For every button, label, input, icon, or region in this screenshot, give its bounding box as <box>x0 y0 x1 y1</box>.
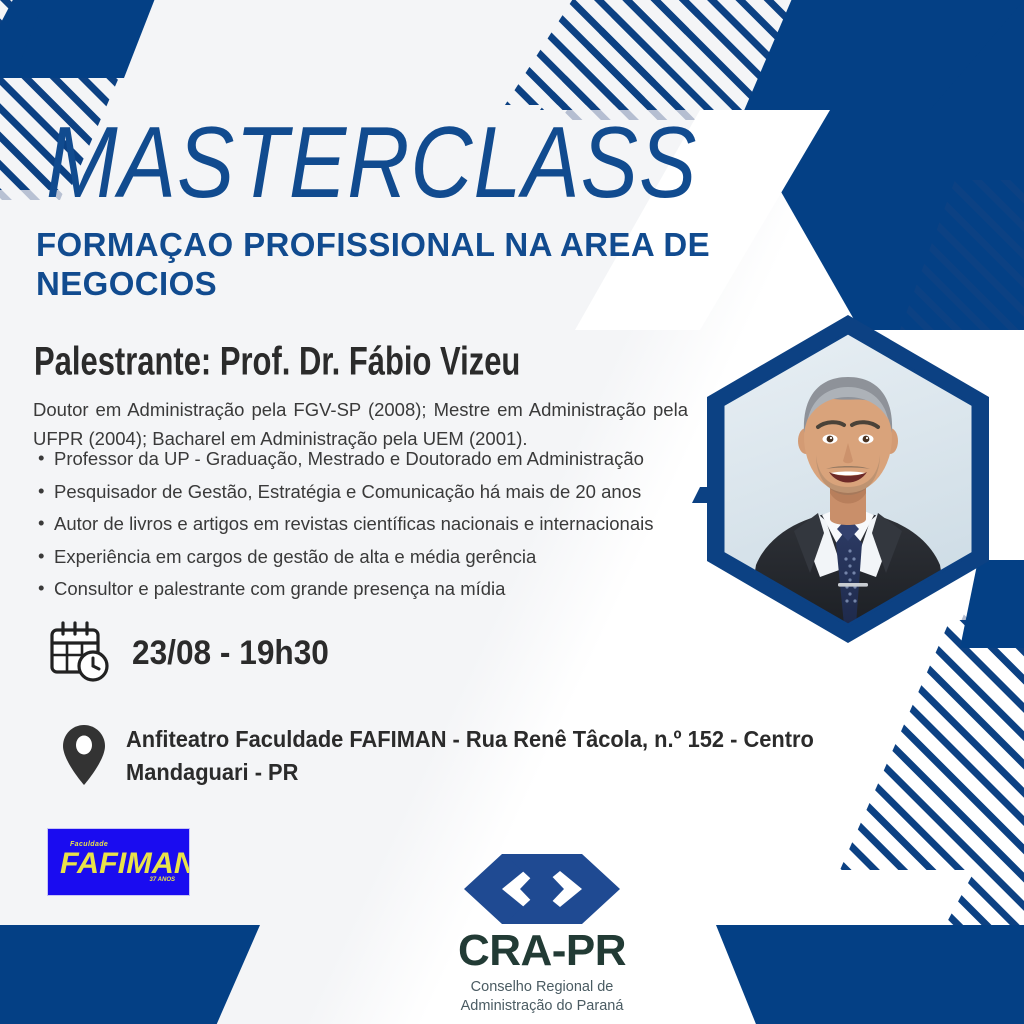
fafiman-logo: Faculdade FAFIMAN 37 ANOS <box>47 828 190 896</box>
speaker-credentials-list: Professor da UP - Graduação, Mestrado e … <box>38 450 718 613</box>
fafiman-logo-name: FAFIMAN <box>60 847 190 881</box>
event-datetime-text: 23/08 - 19h30 <box>132 634 329 673</box>
list-item: Consultor e palestrante com grande prese… <box>38 580 718 599</box>
event-location-text: Anfiteatro Faculdade FAFIMAN - Rua Renê … <box>126 723 848 790</box>
map-pin-icon <box>60 723 108 789</box>
event-location-row: Anfiteatro Faculdade FAFIMAN - Rua Renê … <box>60 723 886 790</box>
crapr-logo-subtitle-line1: Conselho Regional de <box>407 978 677 997</box>
list-item: Professor da UP - Graduação, Mestrado e … <box>38 450 718 469</box>
page-subtitle: FORMAÇAO PROFISSIONAL NA AREA DE NEGOCIO… <box>36 226 776 304</box>
event-location-line1: Anfiteatro Faculdade FAFIMAN - Rua Renê … <box>126 723 848 756</box>
event-datetime-row: 23/08 - 19h30 <box>48 620 344 686</box>
speaker-bio: Doutor em Administração pela FGV-SP (200… <box>33 396 688 453</box>
speaker-heading: Palestrante: Prof. Dr. Fábio Vizeu <box>34 338 520 384</box>
crapr-logo-subtitle-line2: Administração do Paraná <box>407 997 677 1016</box>
list-item: Experiência em cargos de gestão de alta … <box>38 548 718 567</box>
page-title: MASTERCLASS <box>46 112 697 213</box>
list-item: Pesquisador de Gestão, Estratégia e Comu… <box>38 483 718 502</box>
calendar-clock-icon <box>48 620 114 686</box>
list-item: Autor de livros e artigos em revistas ci… <box>38 515 718 534</box>
speaker-photo <box>698 315 998 643</box>
crapr-logo-mark <box>462 852 622 926</box>
flyer-poster: MASTERCLASS FORMAÇAO PROFISSIONAL NA ARE… <box>0 0 1024 1024</box>
crapr-logo-name: CRA-PR <box>407 928 677 974</box>
crapr-logo: CRA-PR Conselho Regional de Administraçã… <box>407 852 677 1016</box>
crapr-logo-subtitle: Conselho Regional de Administração do Pa… <box>407 978 677 1016</box>
fafiman-logo-tag: 37 ANOS <box>150 877 175 883</box>
event-location-line2: Mandaguari - PR <box>126 756 848 789</box>
speaker-photo-hexagon <box>698 315 998 643</box>
